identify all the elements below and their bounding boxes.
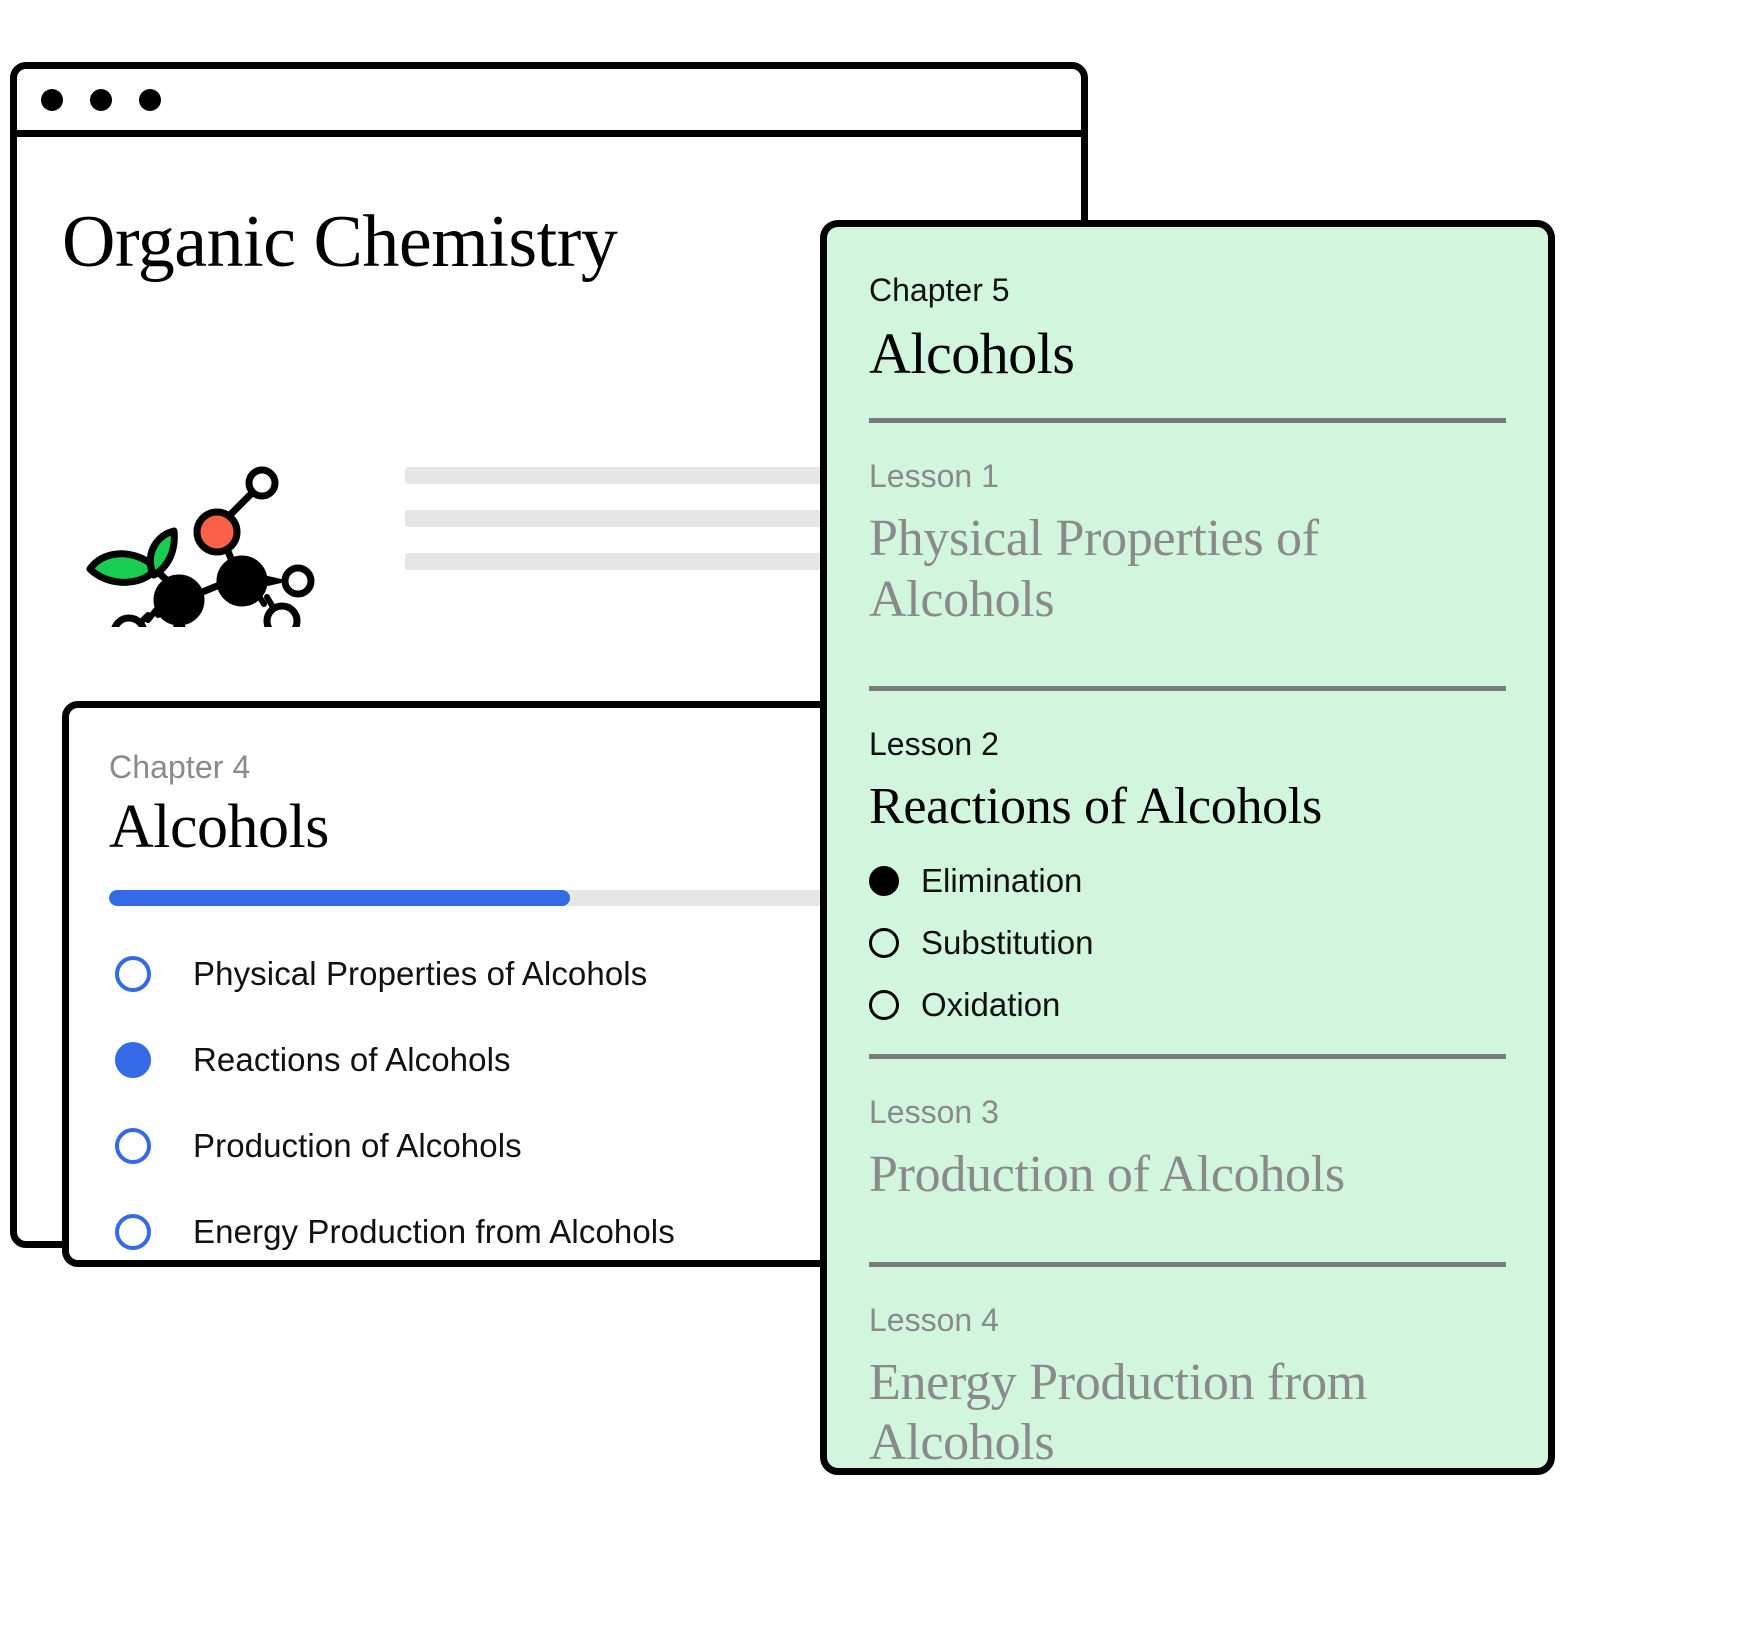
panel-lesson-2[interactable]: Lesson 2 Reactions of Alcohols Eliminati… [869, 691, 1506, 1024]
panel-lesson-3[interactable]: Lesson 3 Production of Alcohols [869, 1059, 1506, 1206]
spacer [869, 1206, 1506, 1232]
panel-lesson-title: Production of Alcohols [869, 1145, 1506, 1205]
radio-icon[interactable] [115, 1214, 151, 1250]
lesson-label: Physical Properties of Alcohols [193, 955, 647, 993]
spacer [869, 630, 1506, 656]
topic-label: Substitution [921, 924, 1093, 962]
panel-lesson-1[interactable]: Lesson 1 Physical Properties of Alcohols [869, 423, 1506, 630]
panel-lesson-label: Lesson 2 [869, 725, 1506, 763]
radio-icon[interactable] [115, 1042, 151, 1078]
radio-icon[interactable] [115, 956, 151, 992]
panel-lesson-label: Lesson 1 [869, 457, 1506, 495]
chapter-5-overlay-panel[interactable]: Chapter 5 Alcohols Lesson 1 Physical Pro… [820, 220, 1555, 1475]
maximize-dot-icon[interactable] [139, 89, 161, 111]
lesson-label: Energy Production from Alcohols [193, 1213, 675, 1251]
list-item[interactable]: Elimination [869, 862, 1506, 900]
alcohol-molecule-illustration [72, 387, 362, 627]
topic-label: Oxidation [921, 986, 1060, 1024]
list-item[interactable]: Oxidation [869, 986, 1506, 1024]
close-dot-icon[interactable] [41, 89, 63, 111]
radio-icon[interactable] [869, 990, 899, 1020]
minimize-dot-icon[interactable] [90, 89, 112, 111]
panel-chapter-title: Alcohols [869, 321, 1506, 388]
panel-lesson-4[interactable]: Lesson 4 Energy Production from Alcohols [869, 1267, 1506, 1474]
panel-lesson-title: Reactions of Alcohols [869, 777, 1506, 837]
window-titlebar [17, 69, 1081, 137]
panel-lesson-title: Energy Production from Alcohols [869, 1353, 1506, 1474]
radio-icon[interactable] [869, 866, 899, 896]
panel-topic-list: Elimination Substitution Oxidation [869, 862, 1506, 1024]
page-title: Organic Chemistry [62, 205, 617, 279]
chapter-progress-fill [109, 890, 570, 906]
panel-lesson-title: Physical Properties of Alcohols [869, 509, 1506, 630]
panel-lesson-label: Lesson 3 [869, 1093, 1506, 1131]
list-item[interactable]: Substitution [869, 924, 1506, 962]
panel-chapter-label: Chapter 5 [869, 271, 1506, 309]
panel-lesson-label: Lesson 4 [869, 1301, 1506, 1339]
lesson-label: Reactions of Alcohols [193, 1041, 511, 1079]
radio-icon[interactable] [869, 928, 899, 958]
radio-icon[interactable] [115, 1128, 151, 1164]
lesson-label: Production of Alcohols [193, 1127, 522, 1165]
topic-label: Elimination [921, 862, 1082, 900]
